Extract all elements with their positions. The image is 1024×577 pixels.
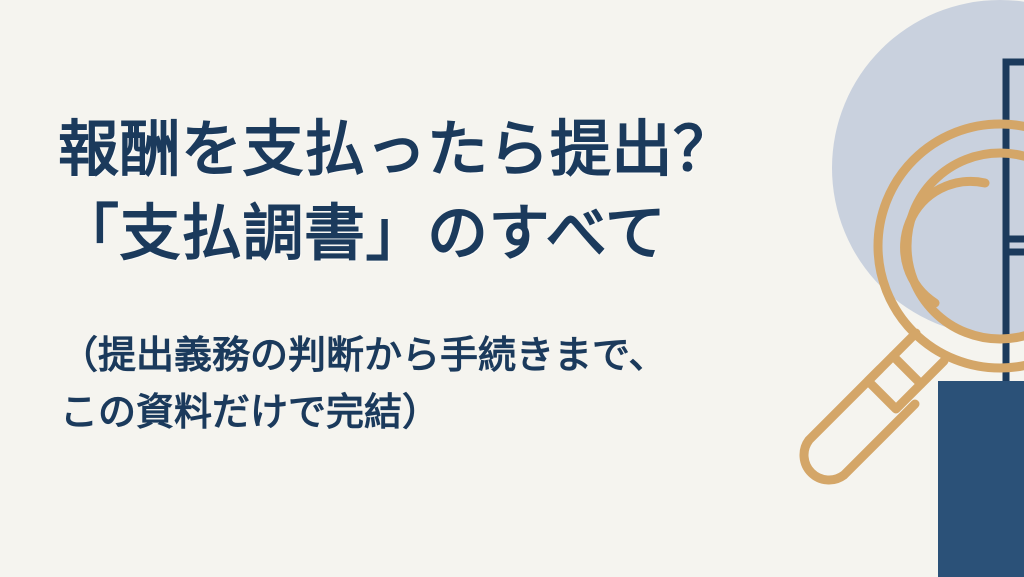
- magnifier-inner-rim-icon: [907, 153, 1024, 339]
- page-subtitle-line-2: この資料だけで完結）: [60, 384, 820, 441]
- document-outline-secondary-icon: [1006, 239, 1024, 429]
- magnifier-outer-rim-icon: [878, 124, 1024, 368]
- magnifier-handle-icon: [804, 369, 915, 480]
- document-solid-notch-icon: [938, 381, 1024, 577]
- magnifier-neck-edge-icon: [921, 361, 944, 384]
- page-title-line-1: 報酬を支払ったら提出？: [58, 108, 848, 192]
- magnifier-neck-icon: [893, 333, 916, 356]
- subtitle-text-block: （提出義務の判断から手続きまで、 この資料だけで完結）: [60, 327, 820, 441]
- document-outline-icon: [1006, 62, 1024, 252]
- page-subtitle-line-1: （提出義務の判断から手続きまで、: [60, 327, 820, 384]
- background-circle-icon: [832, 0, 1024, 336]
- title-slide: 報酬を支払ったら提出？ 「支払調書」のすべて （提出義務の判断から手続きまで、 …: [0, 0, 1024, 577]
- page-title-line-2: 「支払調書」のすべて: [58, 192, 848, 276]
- magnifier-ferrule-icon: [868, 356, 921, 409]
- decorative-artwork: [0, 0, 1024, 577]
- magnifier-shine-icon: [905, 181, 985, 303]
- document-solid-icon: [938, 381, 1024, 577]
- title-text-block: 報酬を支払ったら提出？ 「支払調書」のすべて: [58, 108, 848, 276]
